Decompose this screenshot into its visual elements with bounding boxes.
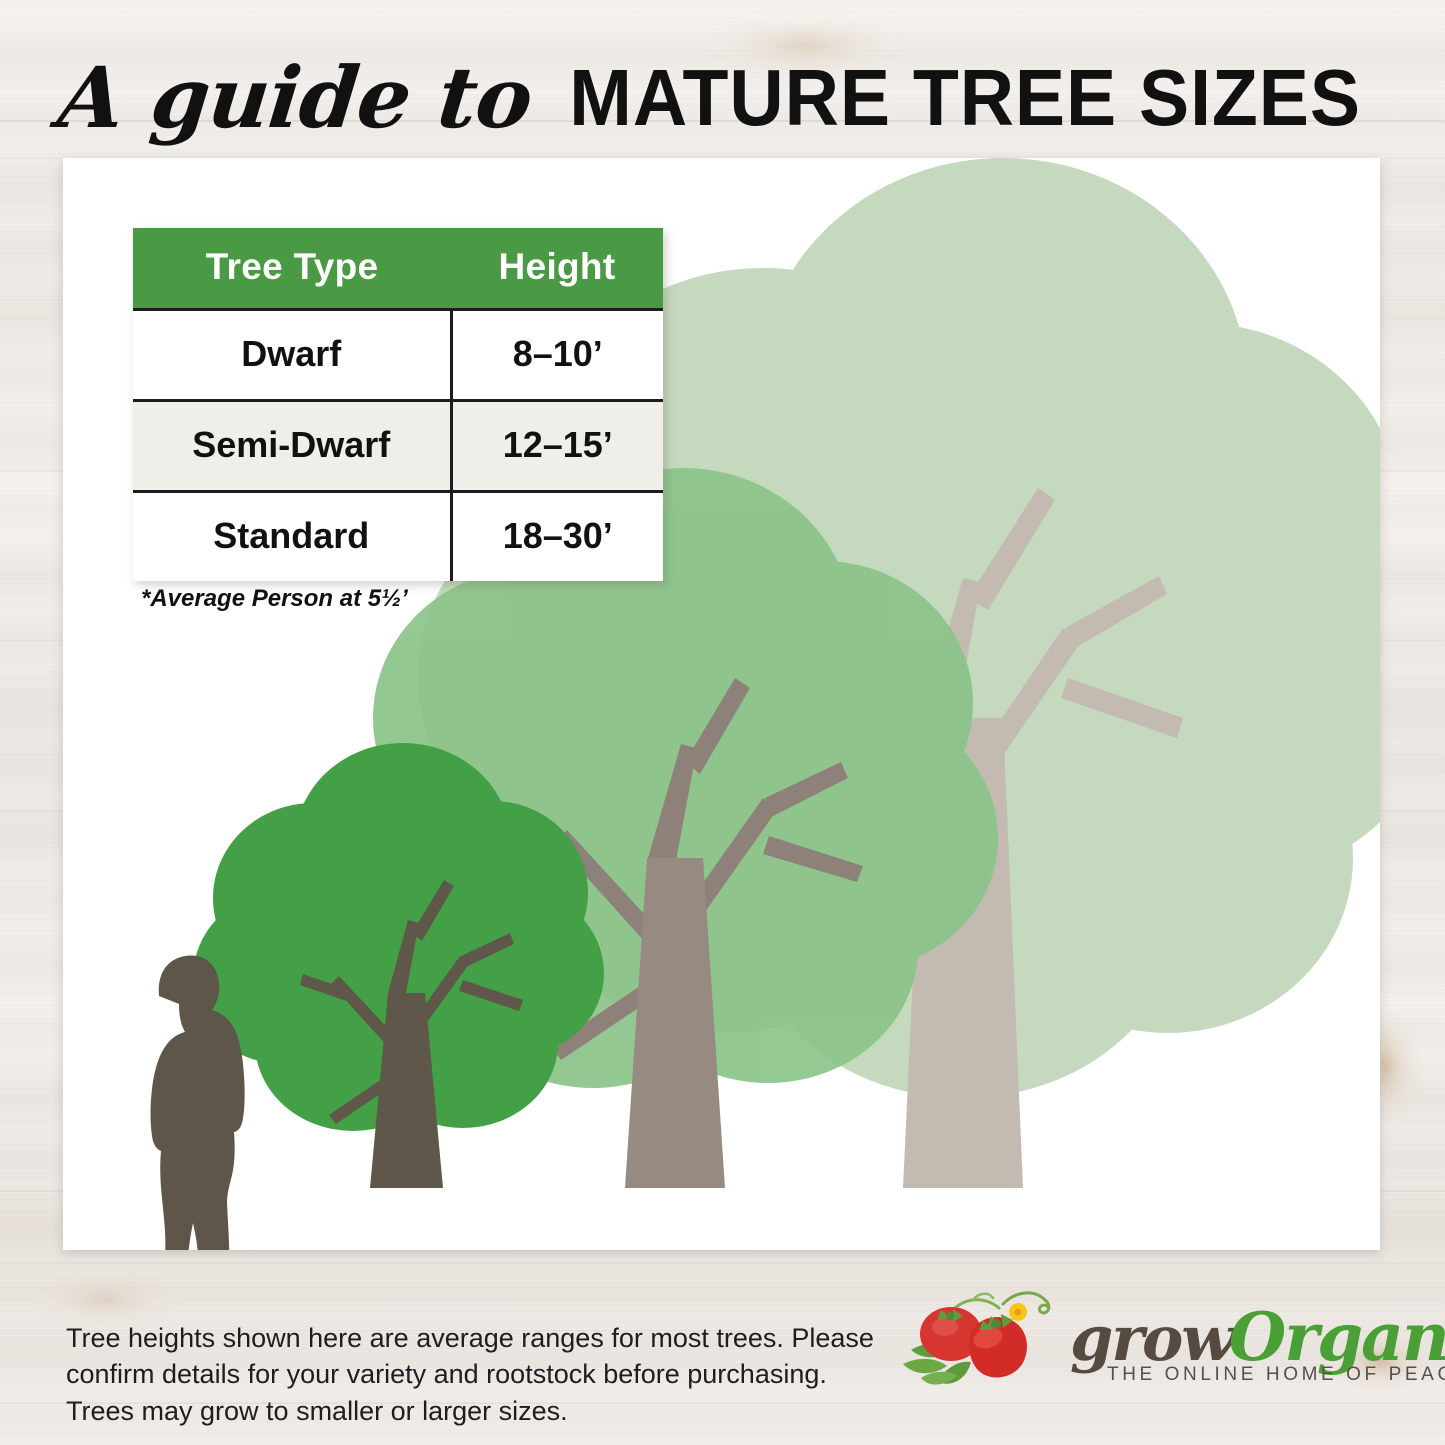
table-row: Dwarf 8–10’	[133, 310, 663, 401]
tomatoes-icon	[895, 1286, 1070, 1401]
blossom-icon	[1009, 1303, 1027, 1321]
page-title: A guide toMATURE TREE SIZES	[0, 48, 1445, 158]
cell-height: 8–10’	[451, 310, 663, 401]
disclaimer-text: Tree heights shown here are average rang…	[66, 1320, 876, 1429]
cell-tree-type: Dwarf	[133, 310, 451, 401]
page-title-script: A guide to	[54, 48, 537, 147]
column-header-height: Height	[451, 228, 663, 310]
cell-height: 12–15’	[451, 401, 663, 492]
column-header-tree-type: Tree Type	[133, 228, 451, 310]
tree-size-table: Tree Type Height Dwarf 8–10’ Semi-Dwarf …	[133, 228, 663, 581]
table-row: Standard 18–30’	[133, 492, 663, 582]
cell-tree-type: Standard	[133, 492, 451, 582]
cell-tree-type: Semi-Dwarf	[133, 401, 451, 492]
grow-organic-logo[interactable]: growOrganic.COM THE ONLINE HOME OF PEACE…	[895, 1286, 1395, 1406]
infographic-panel: Tree Type Height Dwarf 8–10’ Semi-Dwarf …	[63, 158, 1380, 1250]
table-row: Semi-Dwarf 12–15’	[133, 401, 663, 492]
footer: Tree heights shown here are average rang…	[0, 1258, 1445, 1445]
table-footnote: *Average Person at 5½’	[141, 585, 408, 613]
table-header-row: Tree Type Height	[133, 228, 663, 310]
cell-height: 18–30’	[451, 492, 663, 582]
logo-tagline: THE ONLINE HOME OF PEACEFUL VALLEY	[1107, 1364, 1445, 1386]
page-title-caps: MATURE TREE SIZES	[569, 52, 1361, 144]
